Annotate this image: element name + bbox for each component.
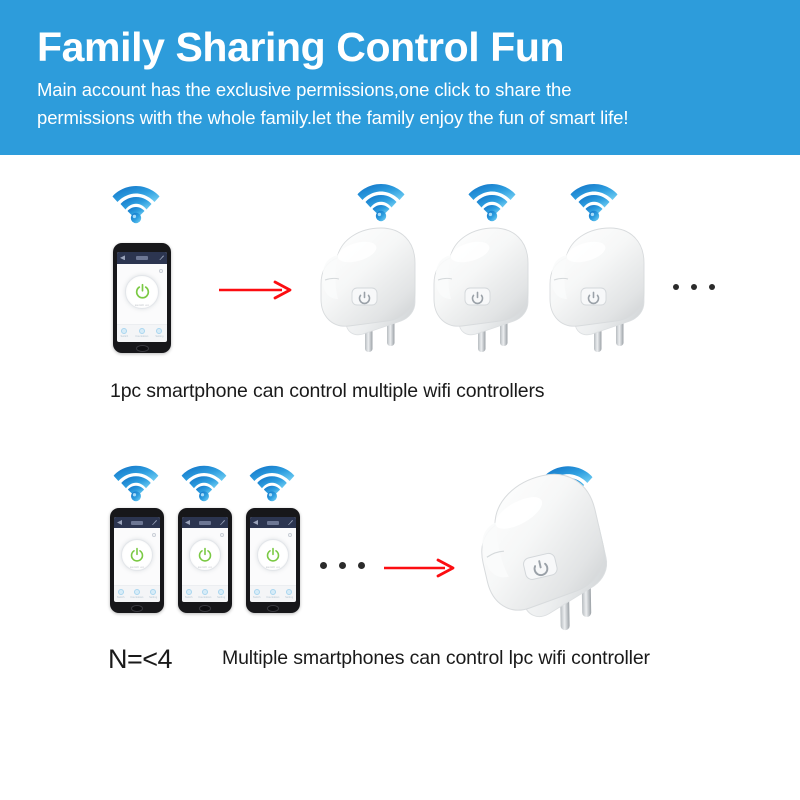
banner-subtitle-line1: Main account has the exclusive permissio… [37,76,766,104]
tab-countdown[interactable]: Countdown [130,589,143,599]
phone-status-text: switch on [250,565,296,569]
n-constraint-label: N=<4 [108,644,172,675]
back-icon[interactable] [253,520,258,525]
phone-status-text: switch on [114,565,160,569]
row2-caption: Multiple smartphones can control lpc wif… [222,647,650,670]
power-icon [129,547,145,563]
smart-plug-2[interactable] [418,222,540,354]
home-button[interactable] [267,605,279,612]
timer-tab-icon [270,589,276,595]
wifi-icon [113,462,159,502]
wifi-icon [357,180,405,222]
wifi-icon [570,180,618,222]
phone-tabbar: Switch Countdown Setting [114,585,160,602]
tab-label: Switch [121,335,129,338]
wifi-icon [468,180,516,222]
phone-tabbar: Switch Countdown Setting [117,324,167,342]
product-infographic: Family Sharing Control Fun Main account … [0,0,800,800]
right-arrow-icon [383,556,455,580]
app-title-bar [136,256,148,260]
timer-tab-icon [202,589,208,595]
gear-icon[interactable] [152,533,156,537]
tab-setting[interactable]: Setting [285,589,293,599]
tab-countdown[interactable]: Countdown [135,328,148,338]
smart-plug-large[interactable] [445,454,638,657]
edit-icon[interactable] [288,520,293,525]
tab-countdown[interactable]: Countdown [198,589,211,599]
smartphone-3[interactable]: switch on Switch Countdown Setting [246,508,300,613]
back-icon[interactable] [117,520,122,525]
phone-screen: switch on Switch Countdown Setting [182,517,228,602]
smart-plug-1[interactable] [305,222,427,354]
power-tab-icon [186,589,192,595]
tab-label: Countdown [130,596,143,599]
phone-app-topbar [182,517,228,528]
tab-label: Countdown [135,335,148,338]
tab-label: Switch [253,596,261,599]
right-arrow-icon [218,278,292,302]
tab-label: Switch [117,596,125,599]
gear-tab-icon [218,589,224,595]
power-tab-icon [118,589,124,595]
smartphone-1[interactable]: switch on Switch Countdown Setting [110,508,164,613]
power-icon [265,547,281,563]
phone-app-body: switch on [182,528,228,585]
phone-screen: switch on Switch Countdown Setting [114,517,160,602]
power-icon [197,547,213,563]
power-tab-icon [254,589,260,595]
phone-status-text: switch on [117,303,167,307]
gear-tab-icon [156,328,162,334]
tab-countdown[interactable]: Countdown [266,589,279,599]
tab-label: Setting [217,596,225,599]
header-banner: Family Sharing Control Fun Main account … [0,0,800,155]
tab-switch[interactable]: Switch [121,328,129,338]
back-icon[interactable] [120,255,125,260]
phone-app-body: switch on [250,528,296,585]
home-button[interactable] [136,345,149,352]
tab-switch[interactable]: Switch [253,589,261,599]
phone-tabbar: Switch Countdown Setting [250,585,296,602]
edit-icon[interactable] [152,520,157,525]
tab-switch[interactable]: Switch [117,589,125,599]
app-title-bar [199,521,210,525]
phone-status-text: switch on [182,565,228,569]
tab-label: Countdown [198,596,211,599]
page-title: Family Sharing Control Fun [37,24,766,70]
gear-icon[interactable] [159,269,163,273]
timer-tab-icon [139,328,145,334]
home-button[interactable] [131,605,143,612]
phone-app-topbar [117,252,167,264]
back-icon[interactable] [185,520,190,525]
row1-caption: 1pc smartphone can control multiple wifi… [110,380,544,403]
phone-app-body: switch on [114,528,160,585]
wifi-icon [112,182,160,224]
ellipsis-more-plugs [673,284,715,290]
gear-tab-icon [150,589,156,595]
tab-label: Switch [185,596,193,599]
tab-label: Countdown [266,596,279,599]
phone-app-body: switch on [117,264,167,324]
power-tab-icon [121,328,127,334]
tab-setting[interactable]: Setting [155,328,163,338]
timer-tab-icon [134,589,140,595]
app-title-bar [131,521,142,525]
smart-plug-3[interactable] [534,222,656,354]
phone-tabbar: Switch Countdown Setting [182,585,228,602]
wifi-icon [249,462,295,502]
smartphone-main[interactable]: switch on Switch Countdown Setting [113,243,171,353]
gear-icon[interactable] [288,533,292,537]
home-button[interactable] [199,605,211,612]
smartphone-2[interactable]: switch on Switch Countdown Setting [178,508,232,613]
edit-icon[interactable] [220,520,225,525]
phone-app-topbar [250,517,296,528]
ellipsis-more-phones [320,562,365,569]
tab-label: Setting [285,596,293,599]
banner-subtitle-line2: permissions with the whole family.let th… [37,104,766,132]
app-title-bar [267,521,278,525]
tab-label: Setting [149,596,157,599]
phone-screen: switch on Switch Countdown Setting [117,252,167,342]
tab-setting[interactable]: Setting [149,589,157,599]
phone-screen: switch on Switch Countdown Setting [250,517,296,602]
tab-setting[interactable]: Setting [217,589,225,599]
gear-icon[interactable] [220,533,224,537]
edit-icon[interactable] [159,255,164,260]
tab-switch[interactable]: Switch [185,589,193,599]
wifi-icon [181,462,227,502]
tab-label: Setting [155,335,163,338]
gear-tab-icon [286,589,292,595]
phone-app-topbar [114,517,160,528]
power-icon [134,283,151,300]
